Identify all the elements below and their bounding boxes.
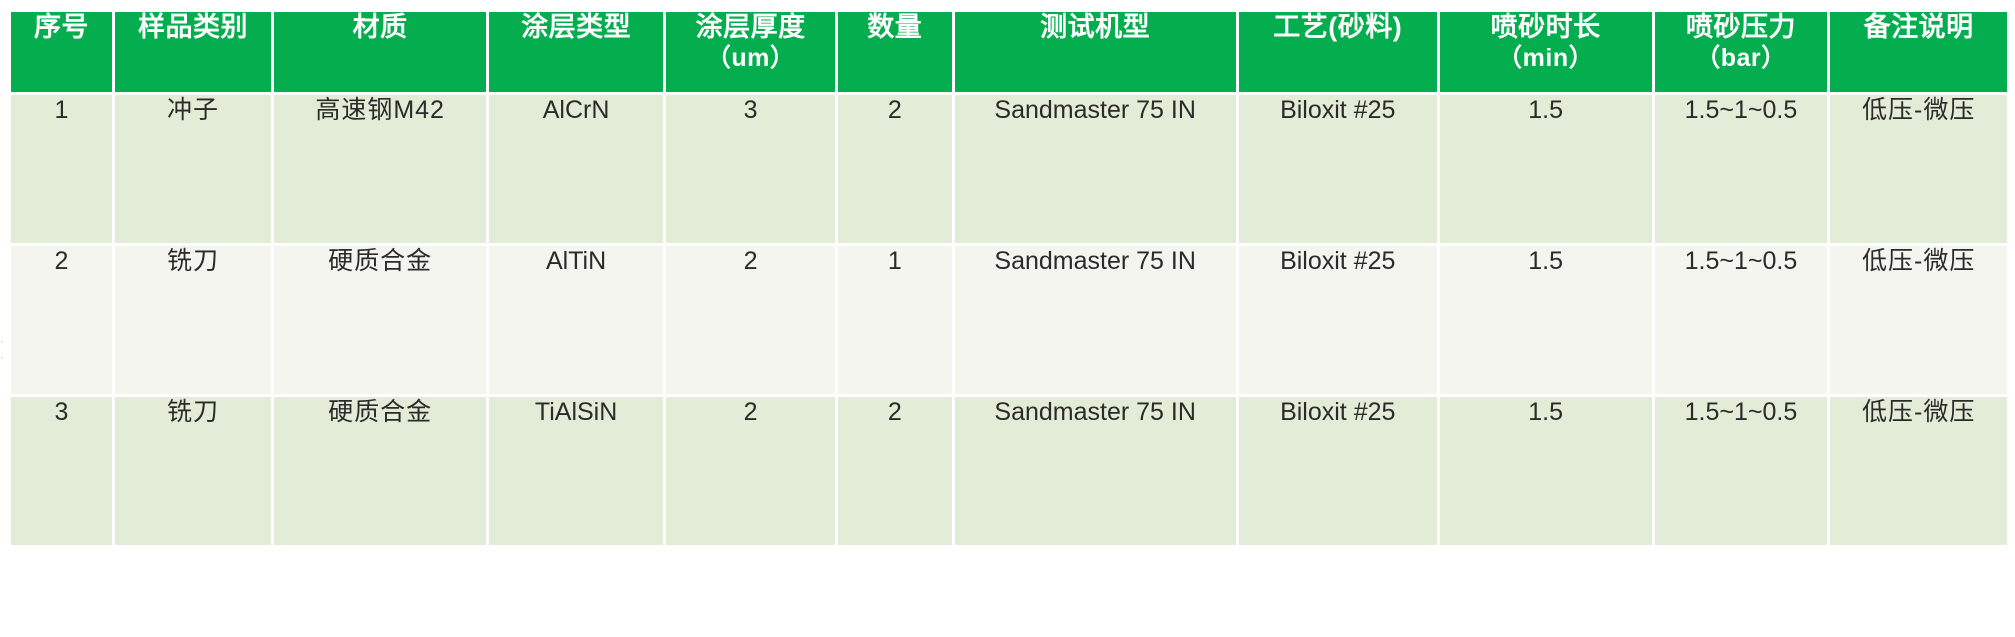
cell-process_sand[interactable]: Biloxit #25	[1239, 95, 1437, 243]
cell-quantity[interactable]: 2	[838, 95, 951, 243]
table-row[interactable]: 2铣刀硬质合金AlTiN21Sandmaster 75 INBiloxit #2…	[11, 246, 2007, 394]
column-header-test_machine[interactable]: 测试机型	[955, 12, 1236, 92]
cell-material[interactable]: 硬质合金	[274, 246, 486, 394]
cell-blast_time[interactable]: 1.5	[1440, 246, 1652, 394]
left-edge-artifact-1: ·	[0, 336, 7, 349]
cell-test_machine[interactable]: Sandmaster 75 IN	[955, 246, 1236, 394]
column-header-label: 喷砂压力	[1686, 12, 1796, 42]
cell-sample_type[interactable]: 冲子	[115, 95, 271, 243]
column-header-coating_type[interactable]: 涂层类型	[489, 12, 663, 92]
column-header-label: 序号	[34, 12, 89, 42]
column-header-label: 样品类别	[138, 12, 248, 42]
table-header: 序号样品类别材质涂层类型涂层厚度（um）数量测试机型工艺(砂料)喷砂时长（min…	[11, 12, 2007, 92]
column-header-remarks[interactable]: 备注说明	[1830, 12, 2007, 92]
cell-seq[interactable]: 1	[11, 95, 112, 243]
column-header-material[interactable]: 材质	[274, 12, 486, 92]
cell-blast_time[interactable]: 1.5	[1440, 95, 1652, 243]
column-header-unit: （um）	[666, 44, 835, 74]
column-header-label: 工艺(砂料)	[1273, 12, 1402, 42]
column-header-coating_thick[interactable]: 涂层厚度（um）	[666, 12, 835, 92]
cell-test_machine[interactable]: Sandmaster 75 IN	[955, 95, 1236, 243]
cell-coating_type[interactable]: AlCrN	[489, 95, 663, 243]
cell-process_sand[interactable]: Biloxit #25	[1239, 397, 1437, 545]
table-row[interactable]: 3铣刀硬质合金TiAlSiN22Sandmaster 75 INBiloxit …	[11, 397, 2007, 545]
document-canvas: · · 序号样品类别材质涂层类型涂层厚度（um）数量测试机型工艺(砂料)喷砂时长…	[0, 0, 2015, 637]
column-header-blast_time[interactable]: 喷砂时长（min）	[1440, 12, 1652, 92]
sample-specification-table: 序号样品类别材质涂层类型涂层厚度（um）数量测试机型工艺(砂料)喷砂时长（min…	[8, 9, 2010, 548]
cell-sample_type[interactable]: 铣刀	[115, 246, 271, 394]
cell-blast_pressure[interactable]: 1.5~1~0.5	[1655, 246, 1828, 394]
column-header-label: 涂层类型	[521, 12, 631, 42]
cell-remarks[interactable]: 低压-微压	[1830, 246, 2007, 394]
left-edge-artifact-2: ·	[0, 352, 7, 365]
cell-remarks[interactable]: 低压-微压	[1830, 95, 2007, 243]
cell-sample_type[interactable]: 铣刀	[115, 397, 271, 545]
cell-coating_thick[interactable]: 3	[666, 95, 835, 243]
table-body: 1冲子高速钢M42AlCrN32Sandmaster 75 INBiloxit …	[11, 95, 2007, 545]
cell-blast_pressure[interactable]: 1.5~1~0.5	[1655, 95, 1828, 243]
column-header-sample_type[interactable]: 样品类别	[115, 12, 271, 92]
column-header-quantity[interactable]: 数量	[838, 12, 951, 92]
column-header-label: 涂层厚度	[696, 12, 806, 42]
cell-seq[interactable]: 3	[11, 397, 112, 545]
cell-material[interactable]: 高速钢M42	[274, 95, 486, 243]
column-header-seq[interactable]: 序号	[11, 12, 112, 92]
column-header-blast_pressure[interactable]: 喷砂压力（bar）	[1655, 12, 1828, 92]
cell-seq[interactable]: 2	[11, 246, 112, 394]
table-row[interactable]: 1冲子高速钢M42AlCrN32Sandmaster 75 INBiloxit …	[11, 95, 2007, 243]
column-header-unit: （bar）	[1655, 44, 1828, 74]
cell-test_machine[interactable]: Sandmaster 75 IN	[955, 397, 1236, 545]
cell-blast_pressure[interactable]: 1.5~1~0.5	[1655, 397, 1828, 545]
cell-material[interactable]: 硬质合金	[274, 397, 486, 545]
column-header-label: 喷砂时长	[1491, 12, 1601, 42]
cell-quantity[interactable]: 2	[838, 397, 951, 545]
column-header-unit: （min）	[1440, 44, 1652, 74]
column-header-process_sand[interactable]: 工艺(砂料)	[1239, 12, 1437, 92]
cell-process_sand[interactable]: Biloxit #25	[1239, 246, 1437, 394]
cell-coating_thick[interactable]: 2	[666, 246, 835, 394]
column-header-label: 材质	[353, 12, 408, 42]
table-header-row: 序号样品类别材质涂层类型涂层厚度（um）数量测试机型工艺(砂料)喷砂时长（min…	[11, 12, 2007, 92]
cell-coating_thick[interactable]: 2	[666, 397, 835, 545]
column-header-label: 测试机型	[1040, 12, 1150, 42]
column-header-label: 数量	[867, 12, 922, 42]
cell-quantity[interactable]: 1	[838, 246, 951, 394]
cell-coating_type[interactable]: TiAlSiN	[489, 397, 663, 545]
cell-blast_time[interactable]: 1.5	[1440, 397, 1652, 545]
cell-remarks[interactable]: 低压-微压	[1830, 397, 2007, 545]
column-header-label: 备注说明	[1864, 12, 1974, 42]
cell-coating_type[interactable]: AlTiN	[489, 246, 663, 394]
